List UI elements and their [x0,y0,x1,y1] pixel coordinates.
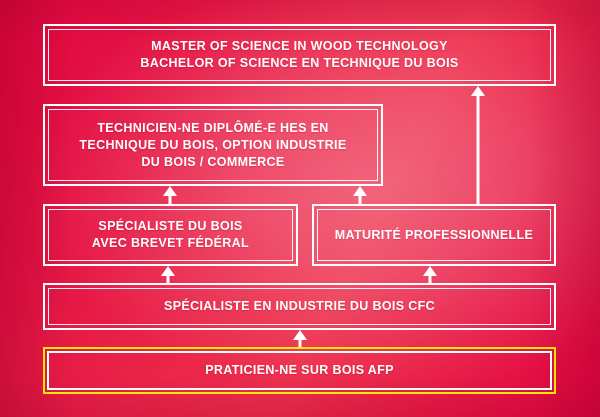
node-label: MATURITÉ PROFESSIONNELLE [329,227,539,244]
career-path-diagram: MASTER OF SCIENCE IN WOOD TECHNOLOGY BAC… [0,0,600,417]
node-inner-frame: PRATICIEN-NE SUR BOIS AFP [47,351,552,390]
node-inner-frame: TECHNICIEN-NE DIPLÔMÉ-E HES EN TECHNIQUE… [48,109,378,181]
node-praticien-sur-bois-afp[interactable]: PRATICIEN-NE SUR BOIS AFP [43,347,556,394]
node-technicien-hes[interactable]: TECHNICIEN-NE DIPLÔMÉ-E HES EN TECHNIQUE… [43,104,383,186]
arrow-shaft [359,195,362,204]
node-inner-frame: MASTER OF SCIENCE IN WOOD TECHNOLOGY BAC… [48,29,551,81]
arrow-brevet-to-technicien [162,186,178,204]
node-inner-frame: SPÉCIALISTE DU BOIS AVEC BREVET FÉDÉRAL [48,209,293,261]
arrow-cfc-to-maturite [422,266,438,283]
arrow-shaft [167,275,170,283]
node-label: SPÉCIALISTE EN INDUSTRIE DU BOIS CFC [158,298,441,315]
node-specialiste-industrie-bois-cfc[interactable]: SPÉCIALISTE EN INDUSTRIE DU BOIS CFC [43,283,556,330]
node-specialiste-brevet-federal[interactable]: SPÉCIALISTE DU BOIS AVEC BREVET FÉDÉRAL [43,204,298,266]
node-maturite-professionnelle[interactable]: MATURITÉ PROFESSIONNELLE [312,204,556,266]
arrow-shaft [169,195,172,204]
node-inner-frame: MATURITÉ PROFESSIONNELLE [317,209,551,261]
arrow-maturite-to-master [470,86,486,204]
arrow-afp-to-cfc [292,330,308,347]
arrow-shaft [477,95,480,204]
node-master-bachelor[interactable]: MASTER OF SCIENCE IN WOOD TECHNOLOGY BAC… [43,24,556,86]
arrow-shaft [429,275,432,283]
node-label: MASTER OF SCIENCE IN WOOD TECHNOLOGY BAC… [134,38,464,72]
node-label: TECHNICIEN-NE DIPLÔMÉ-E HES EN TECHNIQUE… [73,120,352,171]
node-label: PRATICIEN-NE SUR BOIS AFP [199,362,400,379]
arrow-maturite-to-technicien [352,186,368,204]
node-inner-frame: SPÉCIALISTE EN INDUSTRIE DU BOIS CFC [48,288,551,325]
node-label: SPÉCIALISTE DU BOIS AVEC BREVET FÉDÉRAL [86,218,255,252]
arrow-shaft [299,339,302,347]
arrow-cfc-to-brevet [160,266,176,283]
